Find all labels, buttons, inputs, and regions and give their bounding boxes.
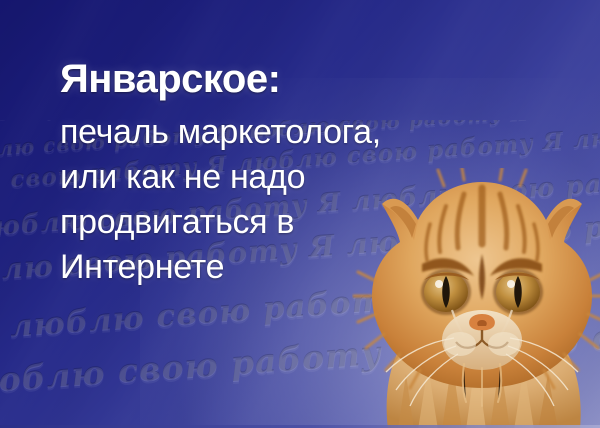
subline-4: Интернете [60, 245, 480, 290]
promo-banner: Я люблю свою работу Я люблю свою работу … [0, 0, 600, 428]
subline-2: или как не надо [60, 155, 480, 200]
copy-block: Январское: печаль маркетолога, или как н… [60, 56, 480, 290]
subline: печаль маркетолога, или как не надо прод… [60, 110, 480, 290]
subline-1: печаль маркетолога, [60, 110, 480, 155]
subline-3: продвигаться в [60, 200, 480, 245]
headline: Январское: [60, 56, 480, 102]
